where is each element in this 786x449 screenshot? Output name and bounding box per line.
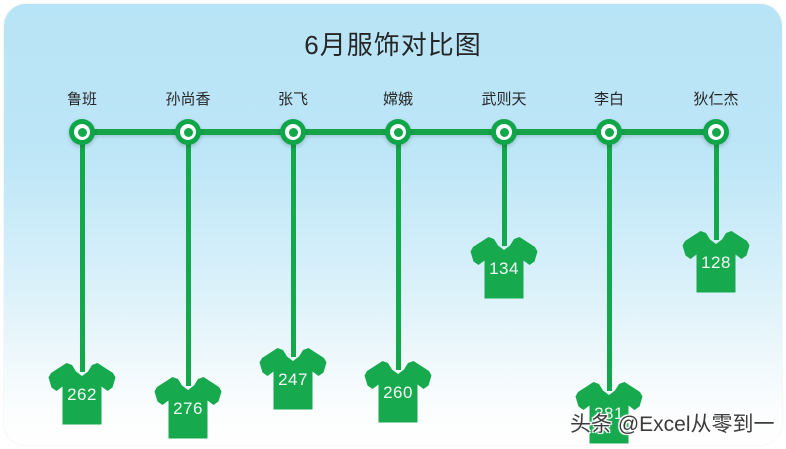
connector-stem [396,132,401,370]
category-label: 嫦娥 [338,90,458,110]
category-label: 狄仁杰 [656,90,776,110]
axis-marker-circle-icon [491,119,517,145]
axis-marker-circle-icon [69,119,95,145]
tshirt-bar-icon: 128 [682,230,750,296]
axis-marker-circle-icon [596,119,622,145]
axis-marker-core [712,128,721,137]
axis-marker-circle-icon [385,119,411,145]
axis-marker-circle-icon [175,119,201,145]
axis-marker-core [605,128,614,137]
tshirt-bar-icon: 276 [154,376,222,442]
axis-marker-circle-icon [703,119,729,145]
axis-marker-core [78,128,87,137]
connector-stem [186,132,191,386]
category-label: 武则天 [444,90,564,110]
chart-screenshot: 6月服饰对比图 鲁班262孙尚香276张飞247嫦娥260武则天134李白281… [0,0,786,449]
connector-stem [714,132,719,240]
tshirt-bar-icon: 134 [470,236,538,302]
watermark-text: 头条 @Excel从零到一 [570,411,775,438]
axis-marker-core [289,128,298,137]
axis-marker-core [394,128,403,137]
bar-value-label: 128 [682,253,750,273]
connector-stem [607,132,612,391]
connector-stem [291,132,296,357]
bar-value-label: 276 [154,399,222,419]
bar-value-label: 262 [48,385,116,405]
connector-stem [502,132,507,246]
tshirt-bar-icon: 262 [48,362,116,428]
category-label: 李白 [549,90,669,110]
tshirt-bar-icon: 260 [364,360,432,426]
axis-marker-circle-icon [280,119,306,145]
chart-card: 6月服饰对比图 鲁班262孙尚香276张飞247嫦娥260武则天134李白281… [4,4,782,445]
chart-title: 6月服饰对比图 [4,28,782,62]
axis-marker-core [500,128,509,137]
bar-value-label: 260 [364,383,432,403]
tshirt-bar-icon: 247 [259,347,327,413]
category-label: 孙尚香 [128,90,248,110]
category-label: 鲁班 [22,90,142,110]
connector-stem [80,132,85,372]
bar-value-label: 134 [470,259,538,279]
bar-value-label: 247 [259,370,327,390]
category-label: 张飞 [233,90,353,110]
axis-marker-core [184,128,193,137]
